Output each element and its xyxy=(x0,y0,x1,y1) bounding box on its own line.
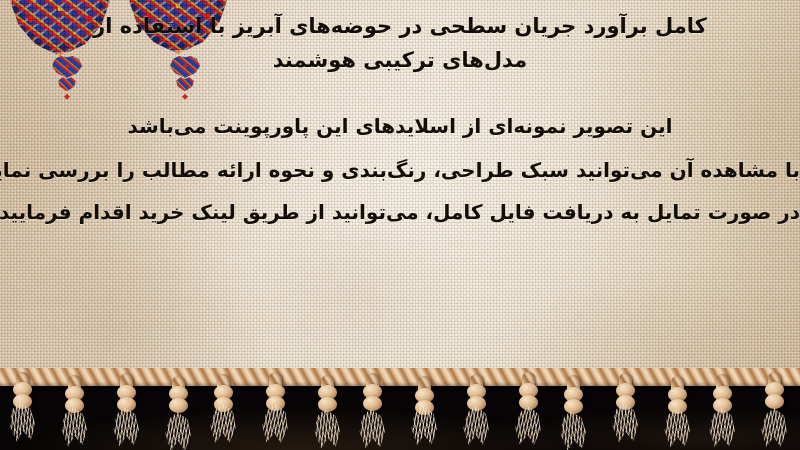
tassel-knot xyxy=(318,397,337,412)
fringe-tassel xyxy=(709,374,735,406)
tassel-cord xyxy=(716,374,729,406)
tassel-frayed-end xyxy=(60,406,88,447)
slide-text-layer: کامل برآورد جریان سطحی در حوضه‌های آبریز… xyxy=(0,0,800,380)
tassel-cord xyxy=(269,372,282,404)
tassel-frayed-end xyxy=(358,409,385,450)
fringe-tassel xyxy=(664,376,690,408)
tassel-frayed-end xyxy=(7,401,36,443)
tassel-cord xyxy=(120,373,133,405)
fringe-tassel xyxy=(61,375,87,407)
fringe-tassel xyxy=(463,374,489,406)
carpet-fringe-band xyxy=(0,368,800,450)
tassel-frayed-end xyxy=(411,406,437,446)
fringe-tassel xyxy=(612,373,638,405)
tassel-frayed-end xyxy=(514,405,543,447)
fringe-tassel xyxy=(560,375,586,407)
tassel-cord xyxy=(321,375,334,407)
fringe-tassel xyxy=(411,376,437,408)
tassel-frayed-end xyxy=(611,402,639,443)
fringe-tassel xyxy=(761,372,787,404)
fringe-tassel xyxy=(359,373,385,405)
tassel-knot xyxy=(765,394,784,409)
fringe-tassel xyxy=(515,372,541,404)
fringe-tassel xyxy=(262,372,288,404)
tassel-frayed-end xyxy=(462,406,489,447)
tassel-cord xyxy=(172,376,185,408)
tassel-knot xyxy=(169,398,188,413)
slide-canvas: کامل برآورد جریان سطحی در حوضه‌های آبریز… xyxy=(0,0,800,450)
slide-title-line-1: کامل برآورد جریان سطحی در حوضه‌های آبریز… xyxy=(0,14,800,38)
tassel-knot xyxy=(363,396,382,411)
fringe-tassel xyxy=(210,374,236,406)
tassel-cord xyxy=(619,373,632,405)
fringe-tassel xyxy=(9,372,35,404)
tassel-frayed-end xyxy=(313,408,342,450)
tassel-cord xyxy=(217,374,230,406)
slide-title-line-2: مدل‌های ترکیبی هوشمند xyxy=(0,48,800,72)
tassel-cord xyxy=(671,376,684,408)
fringe-tassel xyxy=(314,375,340,407)
fringe-tassel xyxy=(113,373,139,405)
tassel-cord xyxy=(68,375,81,407)
tassel-frayed-end xyxy=(558,410,587,450)
tassel-cord xyxy=(366,373,379,405)
slide-body-line-3: در صورت تمایل به دریافت فایل کامل، می‌تو… xyxy=(0,200,800,224)
slide-body-line-1: این تصویر نمونه‌ای از اسلایدهای این پاور… xyxy=(0,114,800,138)
tassel-cord xyxy=(16,372,29,404)
tassel-frayed-end xyxy=(260,403,289,445)
tassel-cord xyxy=(522,372,535,404)
tassel-frayed-end xyxy=(709,408,736,448)
tassel-frayed-end xyxy=(760,407,788,448)
tassel-frayed-end xyxy=(209,403,237,444)
fringe-tassel xyxy=(165,376,191,408)
tassel-frayed-end xyxy=(165,412,192,450)
tassel-frayed-end xyxy=(664,408,691,448)
tassel-cord xyxy=(418,376,431,408)
tassel-cord xyxy=(567,375,580,407)
tassel-knot xyxy=(564,399,583,414)
slide-body-line-2: با مشاهده آن می‌توانید سبک طراحی، رنگ‌بن… xyxy=(0,158,800,182)
tassel-cord xyxy=(768,372,781,404)
tassel-frayed-end xyxy=(113,407,140,447)
tassel-cord xyxy=(470,374,483,406)
